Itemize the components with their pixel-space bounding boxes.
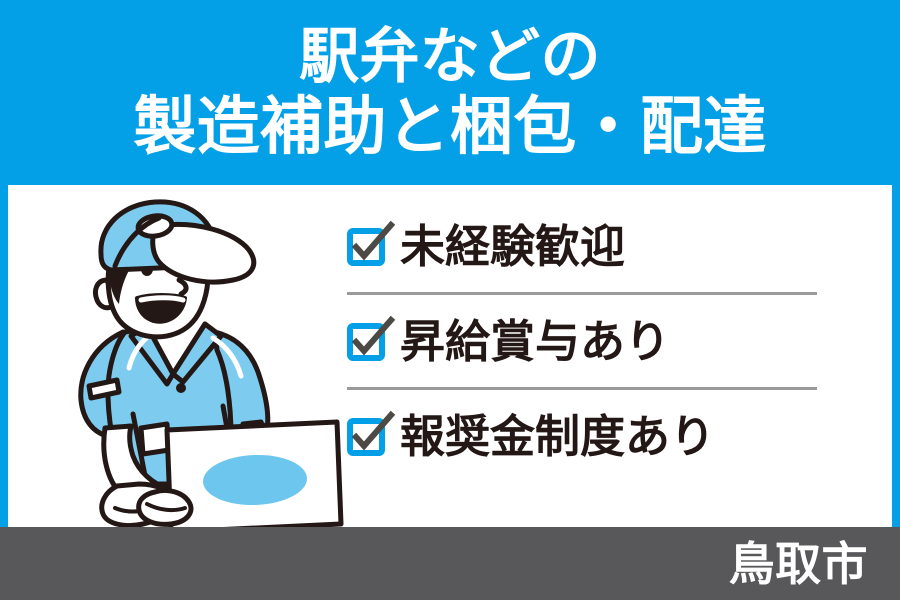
checkbox-checked-icon bbox=[347, 418, 385, 456]
frame-border-right bbox=[892, 0, 900, 534]
feature-label: 昇給賞与あり bbox=[400, 319, 670, 364]
banner-footer: 鳥取市 bbox=[0, 527, 900, 600]
feature-row: 昇給賞与あり bbox=[347, 292, 817, 387]
feature-row: 未経験歓迎 bbox=[347, 200, 817, 292]
checkbox-checked-icon bbox=[347, 323, 385, 361]
header-title-line-1: 駅弁などの bbox=[299, 27, 601, 87]
feature-row: 報奨金制度あり bbox=[347, 387, 817, 482]
feature-label: 未経験歓迎 bbox=[400, 224, 625, 269]
location-label: 鳥取市 bbox=[729, 541, 868, 587]
feature-label: 報奨金制度あり bbox=[400, 414, 715, 459]
banner-header: 駅弁などの 製造補助と梱包・配達 bbox=[0, 0, 900, 185]
job-ad-banner: 駅弁などの 製造補助と梱包・配達 bbox=[0, 0, 900, 600]
delivery-worker-illustration bbox=[55, 192, 355, 537]
frame-border-left bbox=[0, 0, 8, 534]
feature-list: 未経験歓迎 昇給賞与あり 報奨金制度あり bbox=[347, 200, 817, 482]
checkbox-checked-icon bbox=[347, 228, 385, 266]
header-title-line-2: 製造補助と梱包・配達 bbox=[133, 96, 766, 159]
